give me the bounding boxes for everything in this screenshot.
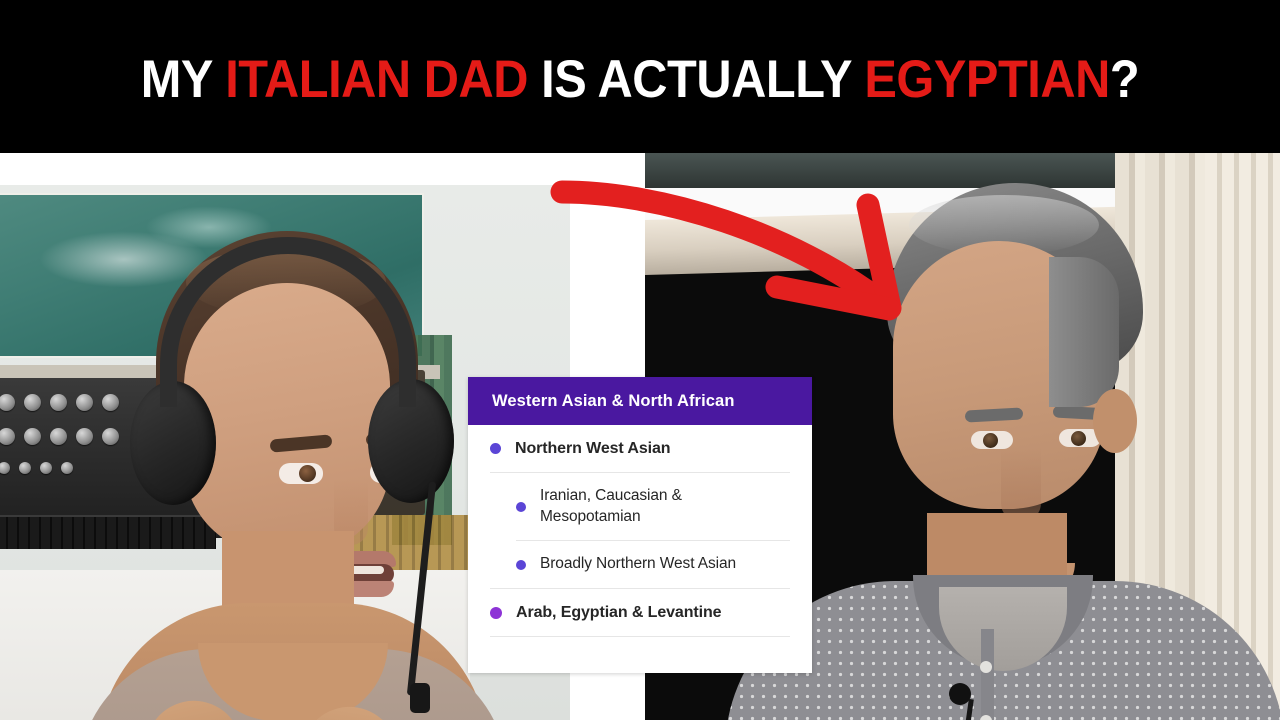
synth-knob xyxy=(102,394,119,411)
card-header-title: Western Asian & North African xyxy=(492,392,735,411)
synth-knob xyxy=(24,394,41,411)
banner-segment-1: MY xyxy=(141,50,225,109)
man-nose xyxy=(1001,447,1041,523)
banner-segment-4: EGYPTIAN xyxy=(864,50,1110,109)
bullet-dot-icon xyxy=(516,560,526,570)
synth-knob xyxy=(50,394,67,411)
polo-placket xyxy=(981,629,994,720)
synth-knob xyxy=(0,462,10,474)
ancestry-row-label: Iranian, Caucasian & Mesopotamian xyxy=(540,486,740,527)
man-iris-right xyxy=(1071,431,1086,446)
woman-iris-left xyxy=(299,465,316,482)
bullet-dot-icon xyxy=(490,443,501,454)
synth-knob xyxy=(19,462,31,474)
synth-knob xyxy=(0,428,15,445)
man-iris-left xyxy=(983,433,998,448)
bullet-dot-icon xyxy=(490,607,502,619)
ancestry-row[interactable]: Iranian, Caucasian & Mesopotamian xyxy=(468,473,812,540)
card-header: Western Asian & North African xyxy=(468,377,812,425)
ancestry-row-label: Arab, Egyptian & Levantine xyxy=(516,602,721,623)
ancestry-row[interactable]: Broadly Northern West Asian xyxy=(468,541,812,588)
synth-knob xyxy=(50,428,67,445)
man-side-hair xyxy=(1049,257,1119,407)
bullet-dot-icon xyxy=(516,502,526,512)
polo-button xyxy=(980,715,992,720)
synth-knob xyxy=(102,428,119,445)
headphone-headband xyxy=(160,237,416,407)
banner-segment-3: IS ACTUALLY xyxy=(541,50,864,109)
synth-knob-row xyxy=(0,394,119,411)
ancestry-row-label: Broadly Northern West Asian xyxy=(540,554,736,574)
man-ear xyxy=(1093,389,1137,453)
ancestry-row-label: Northern West Asian xyxy=(515,438,670,459)
ancestry-row[interactable]: Arab, Egyptian & Levantine xyxy=(468,589,812,636)
banner-segment-5: ? xyxy=(1110,50,1139,109)
synth-knob xyxy=(0,394,15,411)
synth-knob-row xyxy=(0,462,73,474)
cable-clip xyxy=(410,683,430,713)
woman-eyebrow-left xyxy=(270,434,333,452)
ancestry-breakdown-card[interactable]: Western Asian & North African Northern W… xyxy=(468,377,812,673)
synth-knob xyxy=(61,462,73,474)
polo-button xyxy=(980,661,992,673)
ancestry-row[interactable]: Northern West Asian xyxy=(468,425,812,472)
synth-knob xyxy=(24,428,41,445)
synth-knob xyxy=(76,394,93,411)
banner-segment-2: ITALIAN DAD xyxy=(225,50,541,109)
man-eyebrow-left xyxy=(965,407,1024,422)
synth-knob-row xyxy=(0,428,119,445)
synth-knob xyxy=(40,462,52,474)
row-separator xyxy=(490,636,790,637)
thumbnail-stage: Western Asian & North African Northern W… xyxy=(0,0,1280,720)
synth-knob xyxy=(76,428,93,445)
woman-eye-left xyxy=(279,463,323,484)
title-banner: MY ITALIAN DAD IS ACTUALLY EGYPTIAN? xyxy=(0,0,1280,153)
card-row-list: Northern West Asian Iranian, Caucasian &… xyxy=(468,425,812,637)
banner-title: MY ITALIAN DAD IS ACTUALLY EGYPTIAN? xyxy=(51,53,1229,106)
man-figure xyxy=(835,183,1265,720)
woman-figure xyxy=(118,231,463,720)
